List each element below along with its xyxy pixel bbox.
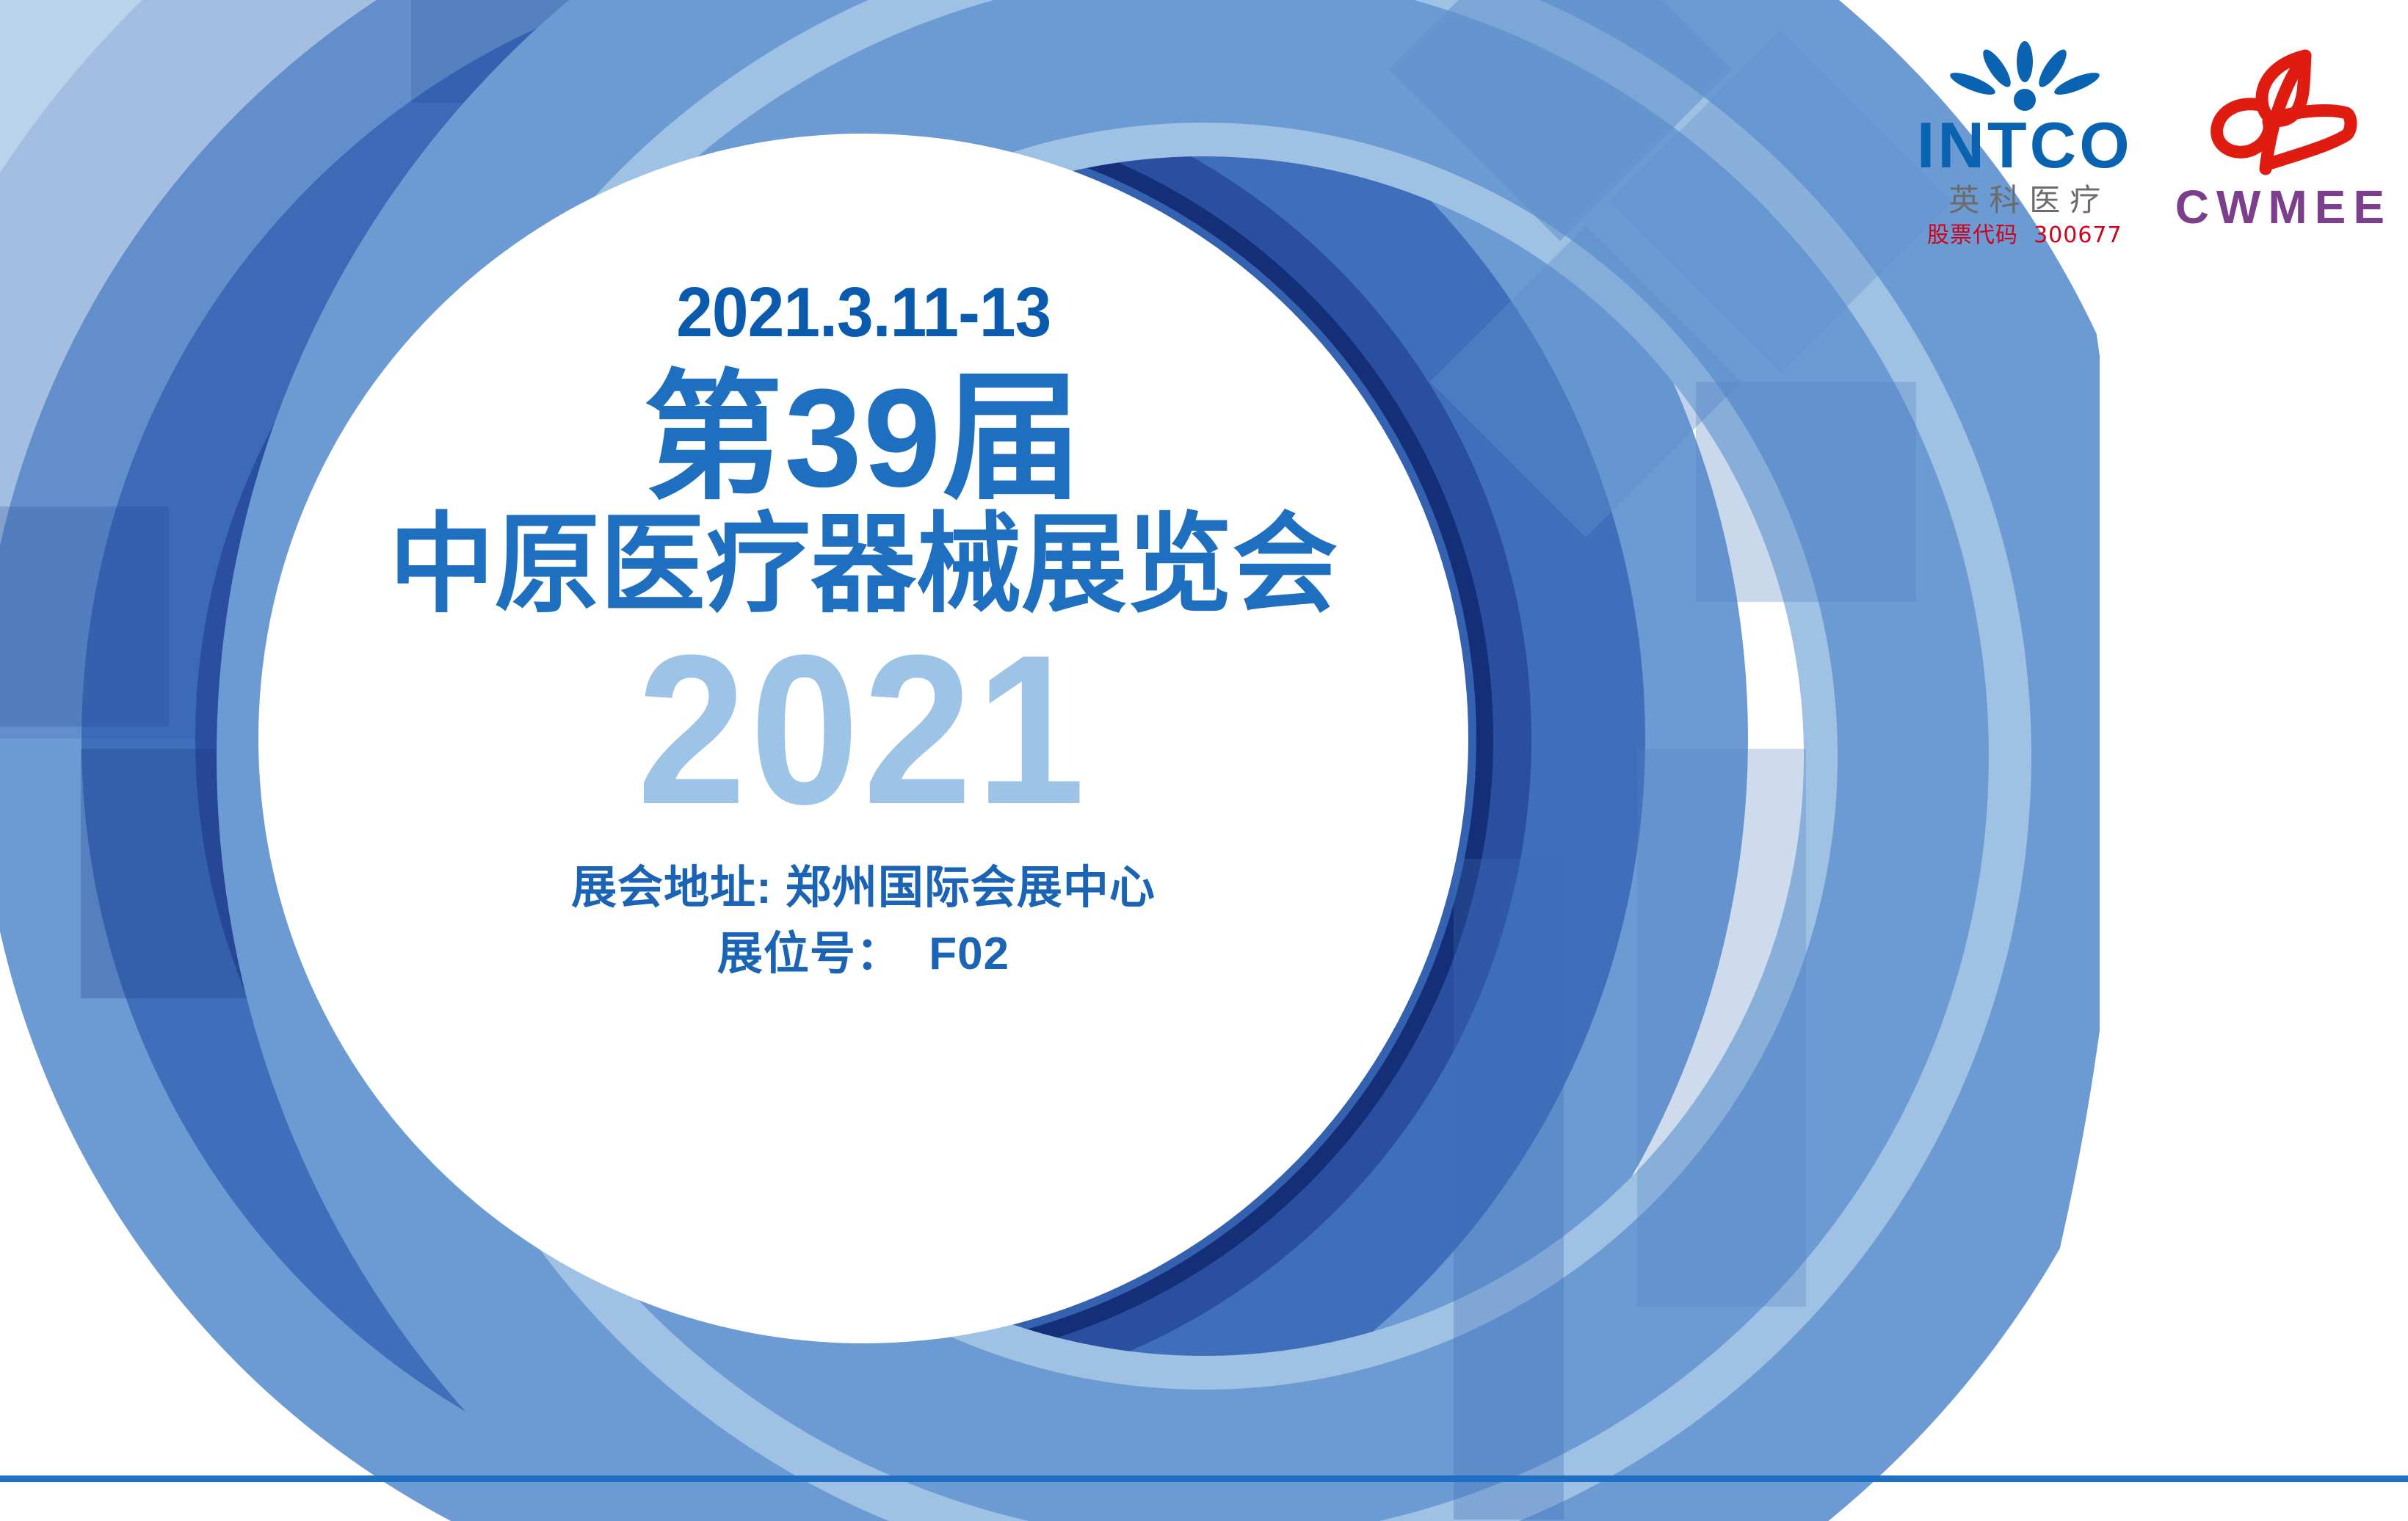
event-date: 2021.3.11-13 [676,277,1051,348]
intco-wordmark: INTCO [1917,113,2133,178]
year-watermark: 2021 [637,623,1089,836]
cwmee-logo: CWMEE [2168,46,2392,230]
page-subtitle: 中原医疗器械展览会 [389,508,1338,622]
booth-number: 展位号： F02 [717,921,1009,987]
logo-row: INTCO 英科医疗 股票代码 300677 CWMEE [1917,41,2392,247]
venue-address: 展会地址: 郑州国际会展中心 [571,855,1156,921]
cwmee-wordmark: CWMEE [2168,184,2392,230]
intco-chinese-name: 英科医疗 [1939,185,2110,216]
page-title: 第39届 [643,366,1083,512]
poster-text-block: 2021.3.11-13 第39届 中原医疗器械展览会 2021 展会地址: 郑… [258,134,1468,1343]
intco-stock-code: 股票代码 300677 [1927,225,2122,247]
exhibition-poster: 2021.3.11-13 第39届 中原医疗器械展览会 2021 展会地址: 郑… [0,0,2408,1521]
intco-petal-burst-icon [1940,41,2109,112]
cwmee-red-cross-icon [2195,46,2364,178]
intco-logo: INTCO 英科医疗 股票代码 300677 [1917,41,2133,247]
